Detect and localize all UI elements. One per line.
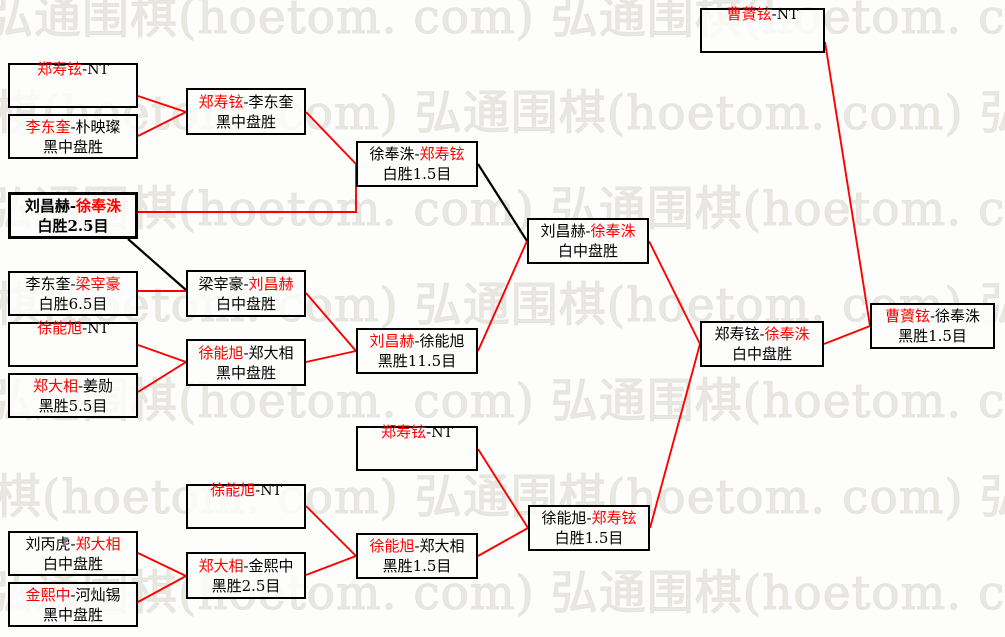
node-result: 白中盘胜 bbox=[732, 344, 792, 364]
player-two: 徐奉洙 bbox=[765, 325, 810, 343]
node-players: 徐奉洙-郑寿铉 bbox=[369, 144, 464, 164]
node-result: 白胜6.5目 bbox=[39, 294, 108, 314]
player-one: 刘丙虎 bbox=[25, 535, 70, 553]
edge-r2a-to-r3a bbox=[306, 112, 356, 164]
node-result: 黑中盘胜 bbox=[216, 363, 276, 383]
node-players: 郑寿铉-李东奎 bbox=[198, 92, 293, 112]
edge-r3a-to-r4a bbox=[478, 164, 527, 241]
bracket-node-r1g[interactable]: 刘丙虎-郑大相白中盘胜 bbox=[8, 531, 138, 576]
player-two: NT bbox=[260, 483, 282, 499]
node-players: 李东奎-朴映璨 bbox=[25, 117, 120, 137]
edge-r1e-to-r2c bbox=[138, 345, 186, 362]
node-result: 白胜1.5目 bbox=[383, 164, 452, 184]
node-result: 黑胜1.5目 bbox=[898, 326, 967, 346]
player-two: 李东奎 bbox=[249, 93, 294, 111]
node-players: 刘丙虎-郑大相 bbox=[25, 534, 120, 554]
player-two: NT bbox=[87, 321, 109, 337]
player-one: 徐能旭 bbox=[210, 481, 255, 499]
bracket-node-r3a[interactable]: 徐奉洙-郑寿铉白胜1.5目 bbox=[356, 141, 478, 187]
player-one: 郑大相 bbox=[33, 377, 78, 395]
player-one: 郑寿铉 bbox=[37, 60, 82, 78]
player-two: 朴映璨 bbox=[76, 118, 121, 136]
edge-r3d-to-r4b bbox=[478, 528, 528, 556]
bracket-node-r1d[interactable]: 李东奎-梁宰豪白胜6.5目 bbox=[8, 271, 138, 316]
player-two: 郑寿铉 bbox=[420, 145, 465, 163]
player-two: 姜勋 bbox=[83, 377, 113, 395]
node-result: 白胜1.5目 bbox=[555, 528, 624, 548]
bracket-diagram: 弘通围棋(hoetom. com) 弘通围棋(hoetom. com) 弘通围棋… bbox=[0, 0, 1005, 637]
player-two: 郑大相 bbox=[420, 537, 465, 555]
player-one: 梁宰豪 bbox=[198, 275, 243, 293]
bracket-node-r3c[interactable]: 郑寿铉-NT bbox=[356, 426, 478, 471]
node-players: 郑寿铉-徐奉洙 bbox=[714, 324, 809, 344]
node-result: 黑胜11.5目 bbox=[378, 351, 456, 371]
node-players: 李东奎-梁宰豪 bbox=[25, 274, 120, 294]
node-players: 曹薋铉-徐奉洙 bbox=[885, 306, 980, 326]
bracket-node-r6a[interactable]: 曹薋铉-徐奉洙黑胜1.5目 bbox=[870, 303, 995, 349]
node-result: 白中盘胜 bbox=[43, 554, 103, 574]
player-two: 郑大相 bbox=[76, 535, 121, 553]
edge-r2d-to-r3d bbox=[306, 506, 356, 556]
player-two: 徐奉洙 bbox=[591, 222, 636, 240]
node-result: 黑中盘胜 bbox=[43, 605, 103, 625]
player-two: 徐奉洙 bbox=[935, 307, 980, 325]
node-players: 郑寿铉-NT bbox=[37, 59, 109, 80]
player-two: 郑大相 bbox=[249, 344, 294, 362]
node-players: 徐能旭-郑寿铉 bbox=[541, 508, 636, 528]
player-one: 郑寿铉 bbox=[381, 423, 426, 441]
edge-r4b-to-r5b bbox=[650, 344, 700, 528]
player-two: 梁宰豪 bbox=[76, 275, 121, 293]
bracket-node-r1b[interactable]: 李东奎-朴映璨黑中盘胜 bbox=[8, 114, 138, 159]
node-players: 徐能旭-郑大相 bbox=[198, 343, 293, 363]
edge-r2e-to-r3d bbox=[306, 556, 356, 575]
edge-r5a-to-r6a bbox=[825, 42, 870, 326]
edge-r3b-to-r4a bbox=[478, 241, 527, 351]
player-one: 李东奎 bbox=[25, 118, 70, 136]
edge-r1c-to-r3a bbox=[138, 164, 356, 212]
node-players: 徐能旭-NT bbox=[37, 318, 109, 339]
bracket-node-r2e[interactable]: 郑大相-金熙中黑胜2.5目 bbox=[186, 552, 306, 599]
bracket-node-r1a[interactable]: 郑寿铉-NT bbox=[8, 63, 138, 108]
bracket-node-r2a[interactable]: 郑寿铉-李东奎黑中盘胜 bbox=[186, 88, 306, 135]
player-one: 郑寿铉 bbox=[714, 325, 759, 343]
node-players: 郑大相-金熙中 bbox=[198, 556, 293, 576]
node-players: 刘昌赫-徐能旭 bbox=[369, 331, 464, 351]
player-one: 刘昌赫 bbox=[540, 222, 585, 240]
edge-r4a-to-r5b bbox=[649, 241, 700, 344]
player-two: 郑寿铉 bbox=[592, 509, 637, 527]
bracket-node-r3b[interactable]: 刘昌赫-徐能旭黑胜11.5目 bbox=[356, 328, 478, 374]
bracket-node-r5a[interactable]: 曹薋铉-NT bbox=[700, 8, 825, 53]
bracket-node-r4a[interactable]: 刘昌赫-徐奉洙白中盘胜 bbox=[527, 218, 649, 264]
player-one: 曹薋铉 bbox=[727, 5, 772, 23]
edge-r1h-to-r2e bbox=[138, 576, 186, 602]
node-players: 金熙中-河灿锡 bbox=[25, 585, 120, 605]
node-players: 梁宰豪-刘昌赫 bbox=[198, 274, 293, 294]
bracket-node-r3d[interactable]: 徐能旭-郑大相黑胜1.5目 bbox=[356, 533, 478, 579]
player-one: 徐能旭 bbox=[198, 344, 243, 362]
player-two: NT bbox=[87, 62, 109, 78]
bracket-node-r1f[interactable]: 郑大相-姜勋黑胜5.5目 bbox=[8, 373, 138, 418]
node-players: 郑寿铉-NT bbox=[381, 422, 453, 443]
player-two: 徐奉洙 bbox=[76, 197, 121, 215]
player-two: NT bbox=[431, 425, 453, 441]
node-players: 刘昌赫-徐奉洙 bbox=[25, 196, 121, 216]
node-players: 郑大相-姜勋 bbox=[33, 376, 113, 396]
edge-r2b-to-r3b bbox=[306, 293, 356, 351]
player-two: NT bbox=[777, 7, 799, 23]
player-one: 曹薋铉 bbox=[885, 307, 930, 325]
node-result: 黑胜1.5目 bbox=[383, 556, 452, 576]
player-two: 刘昌赫 bbox=[249, 275, 294, 293]
player-one: 徐能旭 bbox=[541, 509, 586, 527]
node-result: 白中盘胜 bbox=[216, 294, 276, 314]
player-two: 河灿锡 bbox=[76, 586, 121, 604]
connector-layer bbox=[0, 0, 1005, 637]
bracket-node-r5b[interactable]: 郑寿铉-徐奉洙白中盘胜 bbox=[700, 321, 824, 367]
player-two: 金熙中 bbox=[249, 557, 294, 575]
player-one: 徐奉洙 bbox=[369, 145, 414, 163]
player-one: 郑寿铉 bbox=[198, 93, 243, 111]
player-two: 徐能旭 bbox=[420, 332, 465, 350]
node-players: 徐能旭-NT bbox=[210, 480, 282, 501]
bracket-node-r1c[interactable]: 刘昌赫-徐奉洙白胜2.5目 bbox=[8, 192, 138, 239]
bracket-node-r1h[interactable]: 金熙中-河灿锡黑中盘胜 bbox=[8, 582, 138, 627]
node-result: 白胜2.5目 bbox=[37, 216, 108, 236]
bracket-node-r4b[interactable]: 徐能旭-郑寿铉白胜1.5目 bbox=[528, 505, 650, 551]
player-one: 徐能旭 bbox=[369, 537, 414, 555]
node-result: 白中盘胜 bbox=[558, 241, 618, 261]
edge-r3c-to-r4b bbox=[478, 449, 528, 528]
bracket-node-r2d[interactable]: 徐能旭-NT bbox=[186, 484, 306, 529]
node-players: 徐能旭-郑大相 bbox=[369, 536, 464, 556]
node-players: 刘昌赫-徐奉洙 bbox=[540, 221, 635, 241]
player-one: 刘昌赫 bbox=[25, 197, 70, 215]
edge-r5b-to-r6a bbox=[824, 326, 870, 344]
edge-r1b-to-r2a bbox=[138, 112, 186, 136]
edge-r1g-to-r2e bbox=[138, 553, 186, 576]
edge-r1a-to-r2a bbox=[138, 96, 186, 112]
bracket-node-r2c[interactable]: 徐能旭-郑大相黑中盘胜 bbox=[186, 339, 306, 386]
player-one: 徐能旭 bbox=[37, 319, 82, 337]
edge-r2c-to-r3b bbox=[306, 351, 356, 362]
player-one: 李东奎 bbox=[25, 275, 70, 293]
node-players: 曹薋铉-NT bbox=[727, 4, 799, 25]
player-one: 刘昌赫 bbox=[369, 332, 414, 350]
edge-r1f-to-r2c bbox=[138, 362, 186, 392]
bracket-node-r2b[interactable]: 梁宰豪-刘昌赫白中盘胜 bbox=[186, 270, 306, 317]
node-result: 黑胜2.5目 bbox=[212, 576, 281, 596]
bracket-node-r1e[interactable]: 徐能旭-NT bbox=[8, 322, 138, 367]
node-result: 黑中盘胜 bbox=[216, 112, 276, 132]
node-result: 黑中盘胜 bbox=[43, 137, 103, 157]
player-one: 金熙中 bbox=[25, 586, 70, 604]
player-one: 郑大相 bbox=[198, 557, 243, 575]
node-result: 黑胜5.5目 bbox=[39, 396, 108, 416]
